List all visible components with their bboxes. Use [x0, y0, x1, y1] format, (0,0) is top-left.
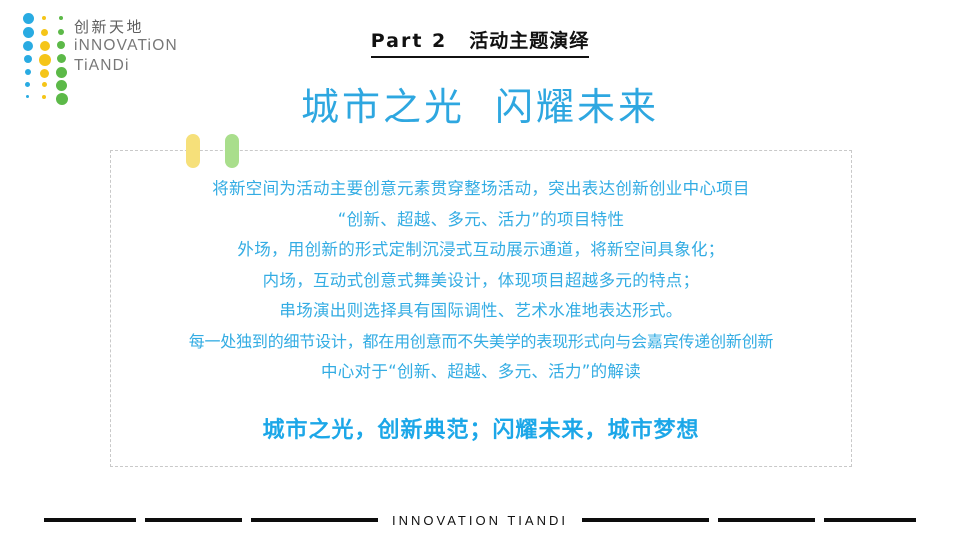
- content-line: 将新空间为活动主要创意元素贯穿整场活动，突出表达创新创业中心项目: [110, 174, 852, 205]
- accent-bar-green: [225, 134, 239, 168]
- accent-bar-yellow: [186, 134, 200, 168]
- footer-dash-left-3: [251, 518, 378, 522]
- content-line: 内场，互动式创意式舞美设计，体现项目超越多元的特点；: [110, 266, 852, 297]
- footer-dash-right-3: [824, 518, 916, 522]
- footer-dash-right-1: [582, 518, 709, 522]
- footer-dash-left-2: [145, 518, 242, 522]
- logo-dot-blue: [25, 69, 31, 75]
- page-title-underlined: Part 2活动主题演绎: [371, 26, 590, 58]
- main-heading: 城市之光闪耀未来: [0, 76, 960, 131]
- content-line: 中心对于“创新、超越、多元、活力”的解读: [110, 357, 852, 388]
- logo-dot-yellow: [42, 16, 46, 20]
- main-heading-left: 城市之光: [301, 85, 465, 129]
- page-title: Part 2活动主题演绎: [0, 26, 960, 58]
- part-subject-label: 活动主题演绎: [469, 30, 589, 52]
- content-slogan: 城市之光，创新典范；闪耀未来，城市梦想: [110, 412, 852, 444]
- logo-name-en-line2: TiANDi: [74, 57, 178, 76]
- logo-dot-green: [59, 16, 63, 20]
- content-body: 将新空间为活动主要创意元素贯穿整场活动，突出表达创新创业中心项目 “创新、超越、…: [110, 174, 852, 388]
- main-heading-right: 闪耀未来: [495, 85, 659, 129]
- content-line: “创新、超越、多元、活力”的项目特性: [110, 205, 852, 236]
- footer-brand-text: INNOVATION TIANDI: [392, 513, 568, 528]
- footer-dash-right-2: [718, 518, 815, 522]
- content-line: 每一处独到的细节设计，都在用创意而不失美学的表现形式向与会嘉宾传递创新创新: [110, 327, 852, 358]
- slide-canvas: 创新天地 iNNOVATiON TiANDi Part 2活动主题演绎 城市之光…: [0, 0, 960, 540]
- content-line: 串场演出则选择具有国际调性、艺术水准地表达形式。: [110, 296, 852, 327]
- part-number-label: Part 2: [371, 30, 448, 52]
- footer-dash-left-1: [44, 518, 136, 522]
- slide-footer: INNOVATION TIANDI: [0, 505, 960, 535]
- logo-dot-blue: [23, 13, 34, 24]
- content-line: 外场，用创新的形式定制沉浸式互动展示通道，将新空间具象化；: [110, 235, 852, 266]
